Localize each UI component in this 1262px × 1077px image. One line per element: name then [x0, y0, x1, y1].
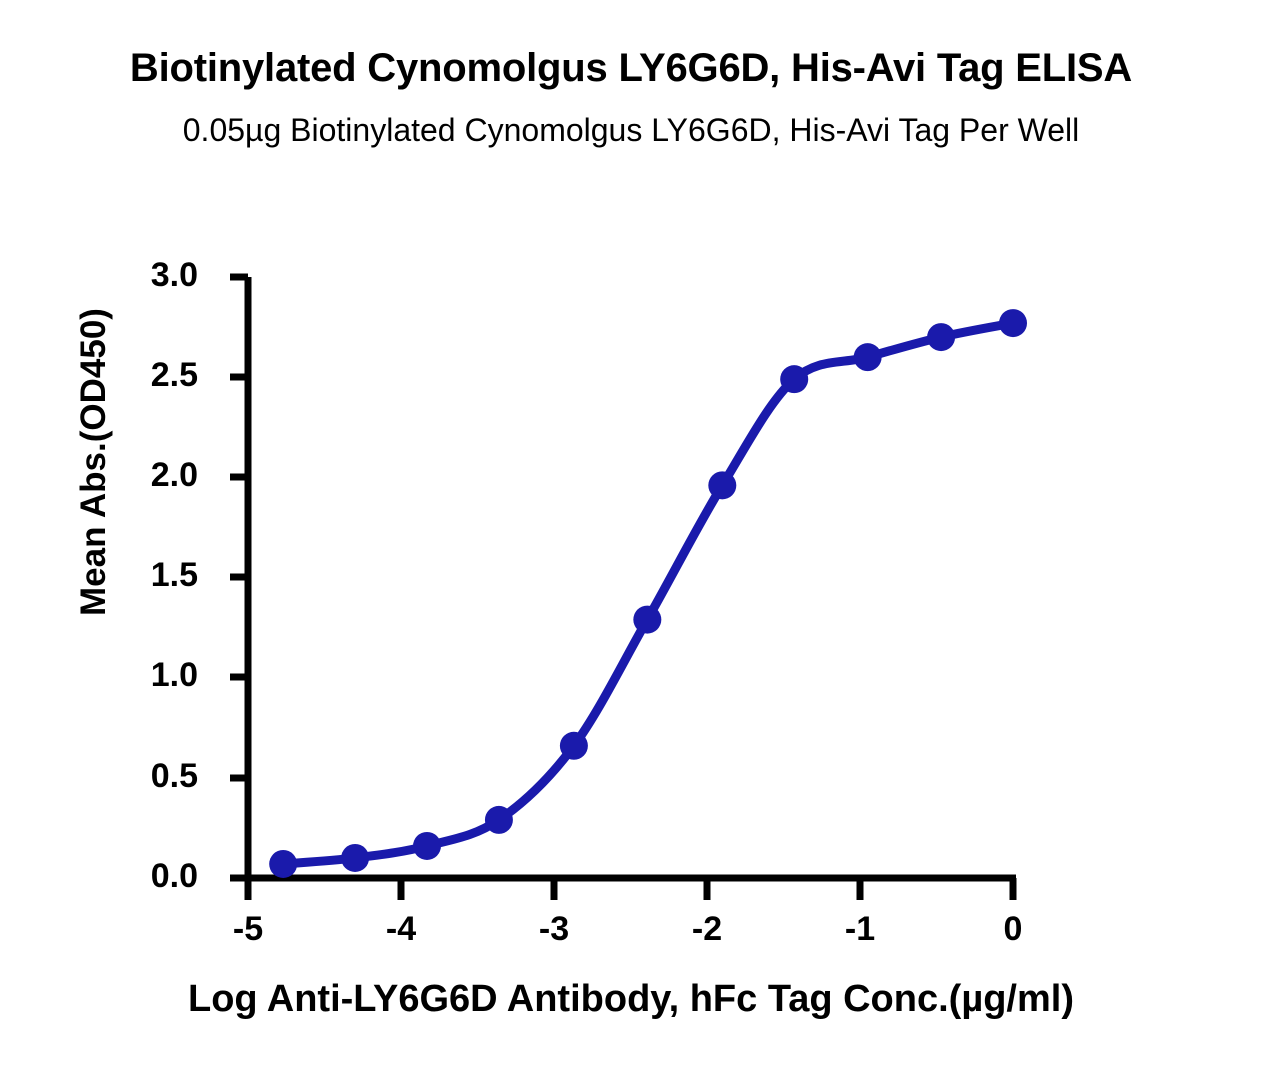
data-point-markers	[269, 309, 1027, 878]
data-point	[269, 850, 297, 878]
data-point	[999, 309, 1027, 337]
data-point	[854, 343, 882, 371]
data-point	[927, 323, 955, 351]
data-point	[413, 832, 441, 860]
plot-area	[0, 0, 1262, 1077]
data-point	[341, 844, 369, 872]
elisa-chart-figure: Biotinylated Cynomolgus LY6G6D, His-Avi …	[0, 0, 1262, 1077]
data-point	[780, 365, 808, 393]
data-point	[708, 471, 736, 499]
fitted-curve	[283, 323, 1013, 864]
data-point	[560, 732, 588, 760]
axis-lines	[245, 277, 1016, 878]
data-series-group	[269, 309, 1027, 878]
data-point	[485, 806, 513, 834]
data-point	[633, 606, 661, 634]
